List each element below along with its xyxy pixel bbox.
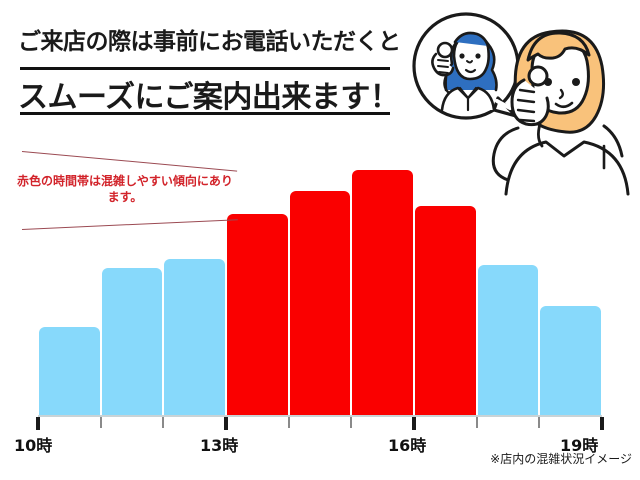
illustration-svg	[398, 0, 640, 242]
x-tick-major	[600, 417, 604, 430]
bar-10時	[39, 327, 100, 416]
chart-footnote: ※店内の混雑状況イメージ	[490, 450, 632, 467]
x-axis-label: 10時	[14, 432, 52, 456]
bar-18時	[540, 306, 601, 415]
x-tick-major	[224, 417, 228, 430]
x-axis-label: 13時	[200, 432, 238, 456]
x-tick-major	[412, 417, 416, 430]
headline-line-2: スムーズにご案内出来ます！	[18, 72, 399, 116]
bar-14時	[290, 191, 351, 415]
headline-rule-top	[20, 67, 390, 70]
x-axis-label: 16時	[388, 432, 426, 456]
phone-call-illustration	[398, 0, 640, 242]
bar-13時	[227, 214, 288, 415]
infographic-root: 10時13時16時19時 ご来店の際は事前にお電話いただくと スムーズにご案内出…	[0, 0, 640, 480]
x-axis-line	[38, 415, 602, 417]
x-tick-major	[36, 417, 40, 430]
headline-line-1: ご来店の際は事前にお電話いただくと	[18, 22, 401, 56]
annotation-text: 赤色の時間帯は混雑しやすい傾向にあります。	[14, 173, 236, 205]
x-tick-minor	[538, 417, 540, 428]
bar-12時	[164, 259, 225, 415]
bar-17時	[478, 265, 539, 415]
x-tick-minor	[288, 417, 290, 428]
x-tick-minor	[350, 417, 352, 428]
headline-rule-bottom	[20, 112, 390, 115]
annotation-line-bottom	[22, 219, 238, 230]
busy-hours-annotation: 赤色の時間帯は混雑しやすい傾向にあります。	[10, 145, 250, 240]
x-tick-minor	[162, 417, 164, 428]
bar-11時	[102, 268, 163, 416]
x-tick-minor	[100, 417, 102, 428]
annotation-line-top	[22, 151, 237, 172]
x-tick-minor	[476, 417, 478, 428]
